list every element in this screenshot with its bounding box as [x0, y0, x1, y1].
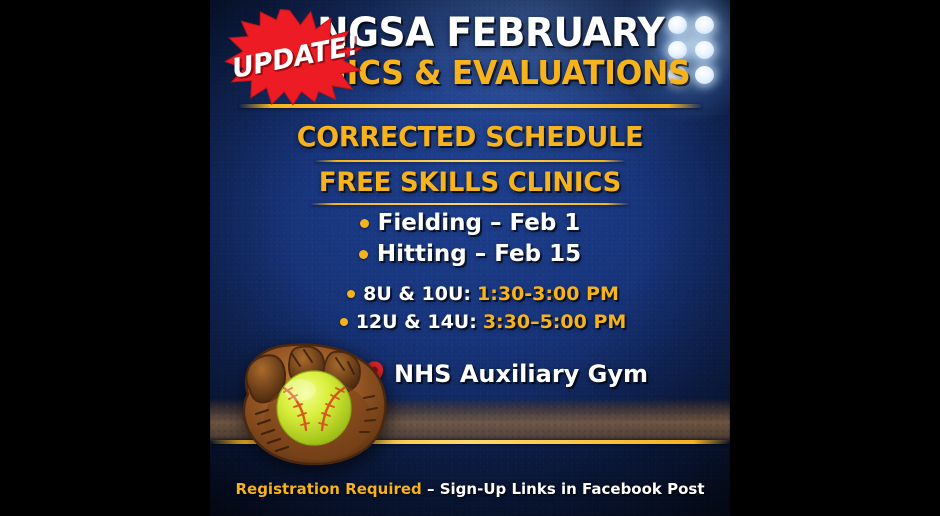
- time-value: 1:30-3:00 PM: [477, 283, 619, 305]
- bullet-icon: [347, 290, 355, 298]
- divider-middle-lower: [311, 203, 629, 205]
- letterbox-left: [0, 0, 210, 516]
- update-badge-label: UPDATE!: [229, 30, 361, 85]
- clinic-label: Hitting – Feb 15: [377, 241, 581, 267]
- flyer-panel: NGSA FEBRUARY CLINICS & EVALUATIONS UPDA…: [210, 0, 730, 516]
- list-item: Fielding – Feb 1: [210, 210, 730, 236]
- update-badge: UPDATE!: [219, 0, 372, 112]
- softball-icon: [277, 371, 351, 445]
- age-group-label: 12U & 14U:: [356, 311, 477, 333]
- time-value: 3:30–5:00 PM: [483, 311, 626, 333]
- venue-name: NHS Auxiliary Gym: [394, 360, 648, 388]
- footer-highlight: Registration Required: [235, 480, 421, 498]
- glove-and-ball-illustration: [222, 336, 408, 468]
- time-list: 8U & 10U: 1:30-3:00 PM 12U & 14U: 3:30–5…: [210, 283, 730, 339]
- divider-middle-upper: [315, 160, 625, 162]
- footer-note: Registration Required – Sign-Up Links in…: [210, 480, 730, 499]
- flyer-stage: NGSA FEBRUARY CLINICS & EVALUATIONS UPDA…: [0, 0, 940, 516]
- clinic-label: Fielding – Feb 1: [378, 210, 581, 236]
- list-item: 12U & 14U: 3:30–5:00 PM: [210, 311, 730, 333]
- divider-top: [239, 104, 701, 108]
- baseball-glove-icon: [222, 336, 408, 468]
- section-heading-corrected-schedule: CORRECTED SCHEDULE: [220, 120, 719, 153]
- age-group-label: 8U & 10U:: [363, 283, 471, 305]
- clinic-list: Fielding – Feb 1 Hitting – Feb 15: [210, 210, 730, 272]
- bullet-icon: [340, 318, 348, 326]
- bullet-icon: [360, 219, 369, 228]
- list-item: 8U & 10U: 1:30-3:00 PM: [210, 283, 730, 305]
- update-badge-text-wrap: UPDATE!: [216, 0, 374, 118]
- bullet-icon: [359, 250, 368, 259]
- section-heading-free-skills-clinics: FREE SKILLS CLINICS: [220, 167, 719, 198]
- letterbox-right: [730, 0, 940, 516]
- footer-rest: – Sign-Up Links in Facebook Post: [422, 480, 705, 498]
- list-item: Hitting – Feb 15: [210, 241, 730, 267]
